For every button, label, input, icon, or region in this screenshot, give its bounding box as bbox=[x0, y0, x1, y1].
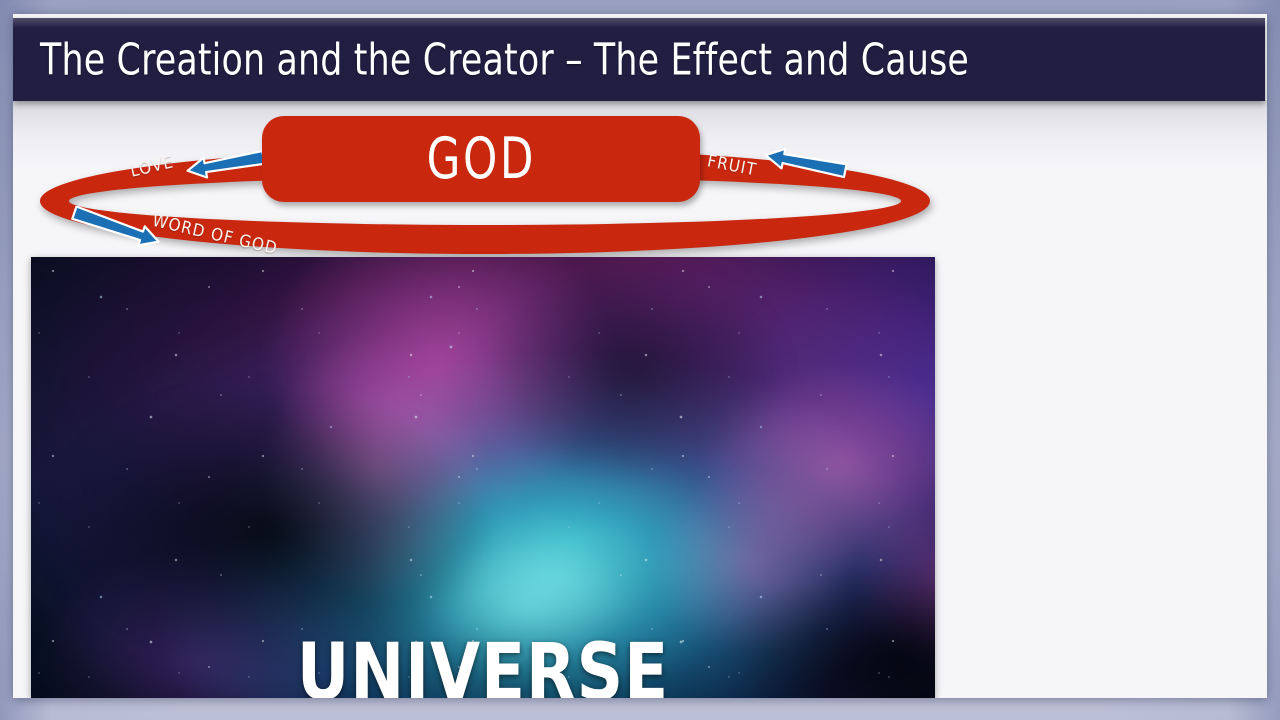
universe-image-label: UNIVERSE bbox=[67, 634, 899, 698]
slide-title-bar: The Creation and the Creator – The Effec… bbox=[13, 18, 1265, 101]
presentation-viewport: The Creation and the Creator – The Effec… bbox=[0, 0, 1280, 720]
arrow-left-icon-love bbox=[185, 149, 267, 184]
arrow-left-icon-fruit bbox=[763, 147, 849, 184]
slide-canvas: The Creation and the Creator – The Effec… bbox=[13, 14, 1267, 698]
god-box-label: GOD bbox=[426, 126, 535, 192]
god-box: GOD bbox=[262, 116, 700, 202]
cycle-diagram: LOVE FRUIT WORD OF GOD GOD bbox=[13, 101, 1267, 261]
universe-image: UNIVERSE bbox=[31, 257, 935, 698]
page-title: The Creation and the Creator – The Effec… bbox=[40, 34, 969, 85]
title-bar-sheen bbox=[13, 18, 1265, 28]
